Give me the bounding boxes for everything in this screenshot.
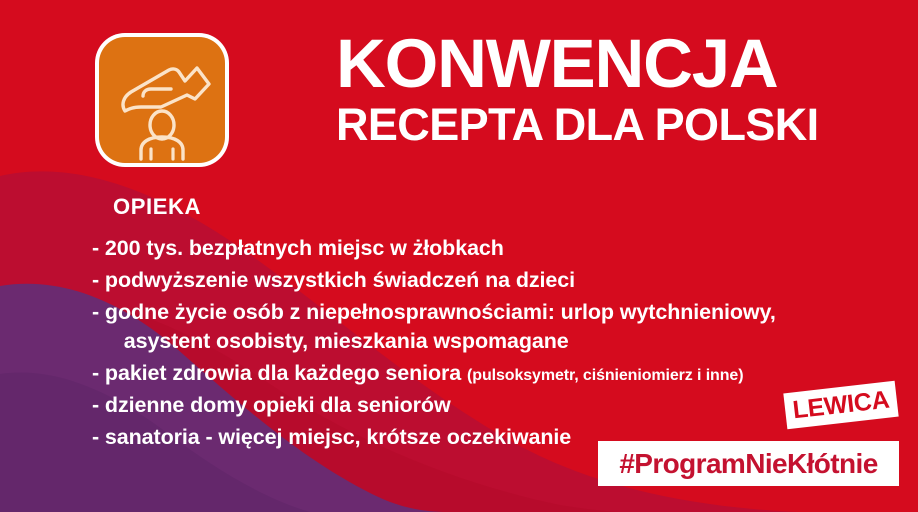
list-item: - podwyższenie wszystkich świadczeń na d…: [92, 266, 892, 297]
headline-line-2: RECEPTA DLA POLSKI: [336, 101, 896, 149]
list-item-text: - 200 tys. bezpłatnych miejsc w żłobkach: [92, 236, 504, 260]
campaign-poster: KONWENCJA RECEPTA DLA POLSKI OPIEKA - 20…: [0, 0, 918, 512]
list-item: - dzienne domy opieki dla seniorów: [92, 391, 892, 422]
list-item-text: - podwyższenie wszystkich świadczeń na d…: [92, 268, 575, 292]
list-item: - 200 tys. bezpłatnych miejsc w żłobkach: [92, 234, 892, 265]
opieka-icon-tile: [99, 37, 225, 163]
list-item-text: - pakiet zdrowia dla każdego seniora: [92, 361, 467, 385]
list-item-note: (pulsoksymetr, ciśnieniomierz i inne): [467, 367, 743, 384]
list-item-text: - dzienne domy opieki dla seniorów: [92, 393, 451, 417]
headline-line-1: KONWENCJA: [336, 31, 896, 98]
hashtag-label: #ProgramNieKłótnie: [619, 450, 877, 478]
program-bullet-list: - 200 tys. bezpłatnych miejsc w żłobkach…: [92, 234, 892, 455]
list-item-text: - sanatoria - więcej miejsc, krótsze ocz…: [92, 425, 571, 449]
caring-hand-over-person-icon: [99, 37, 225, 163]
list-item-text: - godne życie osób z niepełnosprawnościa…: [92, 300, 776, 353]
list-item: - godne życie osób z niepełnosprawnościa…: [92, 298, 892, 358]
lewica-logo-label: LEWICA: [791, 387, 890, 423]
poster-headline: KONWENCJA RECEPTA DLA POLSKI: [336, 31, 896, 149]
section-heading-opieka: OPIEKA: [113, 194, 201, 220]
list-item: - pakiet zdrowia dla każdego seniora (pu…: [92, 359, 892, 390]
hashtag-banner: #ProgramNieKłótnie: [598, 441, 899, 486]
